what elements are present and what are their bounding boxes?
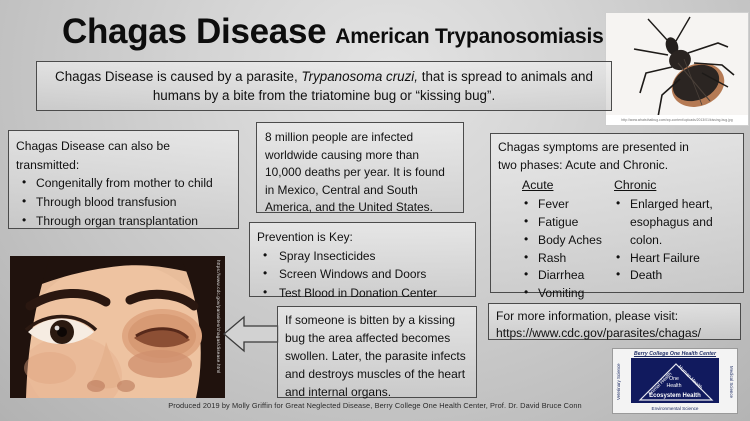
list-item: Heart Failure [614,250,736,268]
list-item: Through blood transfusion [16,193,231,212]
acute-list: Fever Fatigue Body Aches Rash Diarrhea V… [522,196,606,303]
prevention-list: Spray Insecticides Screen Windows and Do… [257,247,468,303]
transmission-box: Chagas Disease can also be transmitted: … [8,130,239,229]
logo-title: Berry College One Health Center [613,349,737,357]
more-information-box: For more information, please visit: http… [488,303,741,340]
prevention-box: Prevention is Key: Spray Insecticides Sc… [249,222,476,297]
transmission-heading-line1: Chagas Disease can also be [16,137,231,156]
list-item: Fatigue [522,214,606,232]
cdc-link[interactable]: https://www.cdc.gov/parasites/chagas/ [496,325,733,342]
bite-description-box: If someone is bitten by a kissing bug th… [277,306,477,398]
list-item: Enlarged heart, esophagus and colon. [614,196,736,249]
svg-text:Health: Health [667,383,682,389]
intro-line-1b: that is spread to animals and [418,69,593,84]
bite-description-text: If someone is bitten by a kissing bug th… [285,311,469,401]
acute-heading: Acute [522,177,606,195]
symptoms-columns: Acute Fever Fatigue Body Aches Rash Diar… [498,177,736,303]
left-arrow-icon [222,313,280,355]
list-item: Body Aches [522,232,606,250]
chronic-heading: Chronic [614,177,736,195]
romana-sign-photo: https://www.cdc.gov/parasites/chagas/dis… [10,256,225,398]
list-item: Fever [522,196,606,214]
symptoms-intro-line2: two phases: Acute and Chronic. [498,157,736,175]
bug-photo-caption: http://www.whatsthatbug.com/wp-content/u… [606,115,748,125]
chronic-list: Enlarged heart, esophagus and colon. Hea… [614,196,736,285]
list-item: Congenitally from mother to child [16,174,231,193]
transmission-list: Congenitally from mother to child Throug… [16,174,231,230]
statistics-text: 8 million people are infected worldwide … [265,129,455,217]
svg-text:Ecosystem Health: Ecosystem Health [649,393,701,399]
intro-text-box: Chagas Disease is caused by a parasite, … [36,61,612,111]
symptoms-intro-line1: Chagas symptoms are presented in [498,139,736,157]
page-title: Chagas Disease American Trypanosomiasis [62,12,604,52]
triatomine-bug-photo: http://www.whatsthatbug.com/wp-content/u… [605,12,749,126]
parasite-species-name: Trypanosoma cruzi, [301,69,418,84]
intro-line-1a: Chagas Disease is caused by a parasite, [55,69,301,84]
list-item: Death [614,267,736,285]
transmission-heading-line2: transmitted: [16,156,231,175]
intro-line-1: Chagas Disease is caused by a parasite, … [45,67,603,86]
slide-canvas: Chagas Disease American Trypanosomiasis [0,0,750,421]
symptoms-box: Chagas symptoms are presented in two pha… [490,133,744,293]
intro-line-2: humans by a bite from the triatomine bug… [45,86,603,105]
acute-column: Acute Fever Fatigue Body Aches Rash Diar… [498,177,606,303]
list-item: Through organ transplantation [16,212,231,231]
footer-credit: Produced 2019 by Molly Griffin for Great… [0,401,750,410]
title-subtitle: American Trypanosomiasis [335,25,603,49]
swollen-eye-face-illustration [10,256,225,398]
list-item: Test Blood in Donation Center [257,284,468,303]
list-item: Diarrhea [522,267,606,285]
title-main: Chagas Disease [62,12,326,52]
prevention-heading: Prevention is Key: [257,228,468,247]
more-info-label: For more information, please visit: [496,308,733,325]
list-item: Screen Windows and Doors [257,265,468,284]
list-item: Vomiting [522,285,606,303]
kissing-bug-illustration [606,13,748,125]
list-item: Rash [522,250,606,268]
chronic-column: Chronic Enlarged heart, esophagus and co… [606,177,736,303]
statistics-box: 8 million people are infected worldwide … [256,122,464,213]
list-item: Spray Insecticides [257,247,468,266]
